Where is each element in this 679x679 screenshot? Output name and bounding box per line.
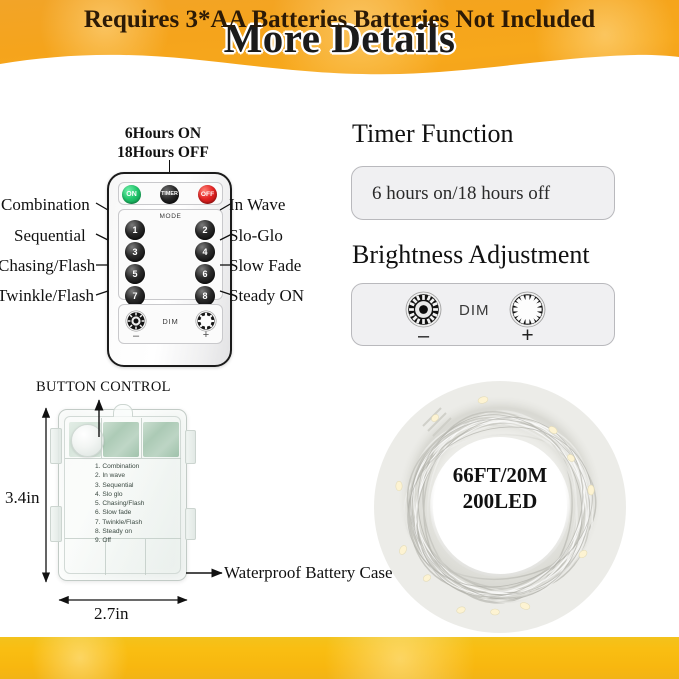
remote-dim-down-icon[interactable]: [125, 310, 147, 332]
waterproof-case-label: Waterproof Battery Case: [224, 563, 393, 583]
case-latch-left-top: [50, 428, 62, 464]
remote-off-button[interactable]: OFF: [198, 185, 217, 204]
battery-button-knob[interactable]: [71, 424, 104, 457]
mode-label-in-wave: In Wave: [229, 195, 285, 215]
mode-label-steady-on: Steady ON: [229, 286, 304, 306]
remote-mode-button-3[interactable]: 3: [125, 242, 145, 262]
remote-timer-button[interactable]: TIMER: [160, 185, 179, 204]
battery-mode-item-5: 5. Chasing/Flash: [95, 499, 183, 508]
mode-label-slow-fade: Slow Fade: [229, 256, 301, 276]
coil-spec-text: 66FT/20M 200LED: [375, 462, 625, 514]
mode-label-chasing-flash: Chasing/Flash: [0, 256, 95, 276]
battery-mode-item-1: 1. Combination: [95, 462, 183, 471]
remote-mode-label: MODE: [118, 213, 223, 220]
coil-length-label: 66FT/20M: [453, 463, 548, 487]
case-seam-3: [65, 458, 181, 459]
timer-note-line2: 18Hours OFF: [117, 144, 209, 161]
mode-label-twinkle-flash: Twinkle/Flash: [0, 286, 94, 306]
battery-mode-item-8: 8. Steady on: [95, 527, 183, 536]
remote-mode-button-6[interactable]: 6: [195, 264, 215, 284]
remote-timer-note: 6Hours ON 18Hours OFF: [88, 124, 238, 162]
remote-mode-button-5[interactable]: 5: [125, 264, 145, 284]
remote-dim-plus-sign: +: [195, 330, 217, 341]
remote-mode-button-8[interactable]: 8: [195, 286, 215, 306]
timer-function-value: 6 hours on/18 hours off: [372, 183, 550, 205]
battery-mode-item-9: 9. Off: [95, 536, 183, 545]
brightness-dim-up-icon[interactable]: [509, 291, 546, 328]
timer-function-heading: Timer Function: [352, 119, 514, 149]
battery-case-hook: [113, 404, 133, 417]
timer-note-line1: 6Hours ON: [125, 125, 201, 142]
case-latch-right-top: [185, 430, 196, 464]
button-control-label: BUTTON CONTROL: [36, 379, 171, 396]
footer-glow-1: [20, 637, 140, 679]
case-latch-right-bottom: [185, 508, 196, 540]
footer-note: Requires 3*AA Batteries Batteries Not In…: [0, 6, 679, 34]
brightness-dim-label: DIM: [459, 302, 490, 319]
battery-case: 1. Combination 2. In wave 3. Sequential …: [58, 409, 187, 581]
battery-mode-list: 1. Combination 2. In wave 3. Sequential …: [95, 462, 183, 546]
timer-note-leader-line: [169, 160, 170, 172]
footer-banner: [0, 637, 679, 679]
brightness-dim-down-icon[interactable]: [405, 291, 442, 328]
remote-mode-button-4[interactable]: 4: [195, 242, 215, 262]
case-seam-2: [141, 418, 142, 458]
mode-label-slo-glo: Slo-Glo: [229, 226, 283, 246]
battery-mode-item-3: 3. Sequential: [95, 481, 183, 490]
case-seam-1: [101, 418, 102, 458]
remote-control: ON TIMER OFF MODE 1 2 3 4 5 6 7 8 DIM: [107, 172, 232, 367]
pcb-region-1: [103, 422, 139, 457]
battery-mode-item-4: 4. Slo glo: [95, 490, 183, 499]
mode-label-combination: Combination: [1, 195, 90, 215]
coil-led-label: 200LED: [463, 489, 538, 513]
battery-height-label: 3.4in: [5, 488, 39, 508]
remote-dim-minus-sign: –: [125, 331, 147, 342]
mode-label-sequential: Sequential: [14, 226, 86, 246]
battery-width-label: 2.7in: [94, 604, 128, 624]
battery-mode-item-6: 6. Slow fade: [95, 508, 183, 517]
case-latch-left-bottom: [50, 506, 62, 542]
brightness-plus-sign: +: [509, 325, 546, 346]
remote-mode-button-7[interactable]: 7: [125, 286, 145, 306]
brightness-heading: Brightness Adjustment: [352, 240, 590, 270]
battery-mode-item-7: 7. Twinkle/Flash: [95, 518, 183, 527]
battery-mode-item-2: 2. In wave: [95, 471, 183, 480]
remote-mode-button-2[interactable]: 2: [195, 220, 215, 240]
product-infographic: More Details 6Hours ON 18Hours OFF ON TI…: [0, 0, 679, 679]
footer-glow-2: [300, 637, 500, 679]
remote-mode-button-1[interactable]: 1: [125, 220, 145, 240]
remote-on-button[interactable]: ON: [122, 185, 141, 204]
pcb-region-2: [143, 422, 179, 457]
brightness-minus-sign: –: [405, 326, 442, 346]
